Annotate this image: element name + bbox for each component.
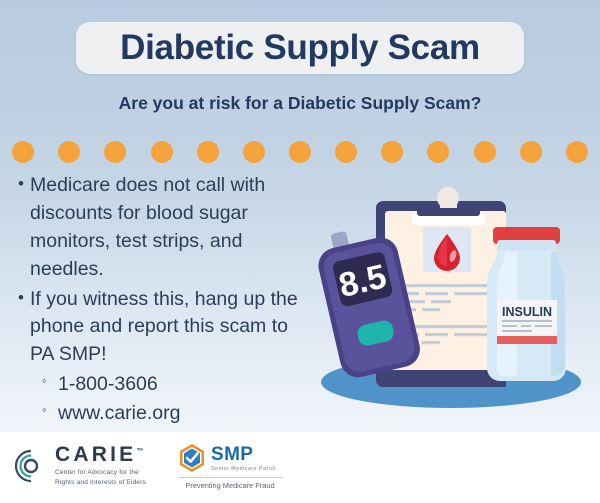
divider-dot [520, 141, 542, 163]
bullet-list: • Medicare does not call with discounts … [12, 172, 312, 429]
dot-divider [0, 141, 600, 165]
bullet-marker-icon: • [12, 286, 30, 370]
trademark-symbol: ™ [136, 448, 143, 455]
poster-canvas: Diabetic Supply Scam Are you at risk for… [0, 0, 600, 503]
bullet-text: Medicare does not call with discounts fo… [30, 172, 312, 284]
footer-bar: CARIE™ Center for Advocacy for the Right… [0, 432, 600, 503]
smp-tagline: Preventing Medicare Fraud [178, 481, 282, 490]
divider-dot [427, 141, 449, 163]
divider-dot [104, 141, 126, 163]
smp-shield-check-icon [178, 443, 206, 473]
bullet-marker-icon: • [12, 172, 30, 284]
carie-tagline-line1: Center for Advocacy for the [55, 468, 146, 478]
smp-divider [178, 477, 282, 478]
carie-logo: CARIE™ Center for Advocacy for the Right… [14, 444, 146, 487]
divider-dot [58, 141, 80, 163]
divider-dot [197, 141, 219, 163]
list-item: • Medicare does not call with discounts … [12, 172, 312, 284]
diabetes-supplies-illustration: 8.5 INSULIN [305, 180, 595, 420]
insulin-bottle: INSULIN [487, 227, 566, 381]
page-title: Diabetic Supply Scam [120, 28, 480, 68]
divider-dot [289, 141, 311, 163]
carie-swirl-icon [14, 449, 48, 483]
phone-number-text[interactable]: 1-800-3606 [58, 371, 312, 399]
hollow-bullet-marker-icon: ◦ [42, 371, 58, 399]
divider-dot [243, 141, 265, 163]
divider-dot [335, 141, 357, 163]
divider-dot [381, 141, 403, 163]
carie-tagline-line2: Rights and Interests of Elders [55, 478, 146, 488]
divider-dot [151, 141, 173, 163]
divider-dot [12, 141, 34, 163]
divider-dot [566, 141, 588, 163]
smp-logo: SMP Senior Medicare Patrol Preventing Me… [178, 443, 282, 490]
carie-wordmark: CARIE™ [55, 444, 146, 465]
sub-bullet-list: ◦ 1-800-3606 ◦ www.carie.org [12, 371, 312, 428]
list-item: ◦ www.carie.org [42, 400, 312, 428]
list-item: ◦ 1-800-3606 [42, 371, 312, 399]
smp-wordmark: SMP [211, 445, 276, 464]
carie-tagline: Center for Advocacy for the Rights and I… [55, 468, 146, 487]
hollow-bullet-marker-icon: ◦ [42, 400, 58, 428]
title-banner: Diabetic Supply Scam [76, 22, 524, 74]
smp-subtitle: Senior Medicare Patrol [211, 466, 276, 472]
bullet-text: If you witness this, hang up the phone a… [30, 286, 312, 370]
divider-dot [474, 141, 496, 163]
page-subtitle: Are you at risk for a Diabetic Supply Sc… [0, 93, 600, 114]
website-url-text[interactable]: www.carie.org [58, 400, 312, 428]
list-item: • If you witness this, hang up the phone… [12, 286, 312, 370]
insulin-label-text: INSULIN [502, 305, 552, 319]
carie-word-text: CARIE [55, 443, 136, 466]
